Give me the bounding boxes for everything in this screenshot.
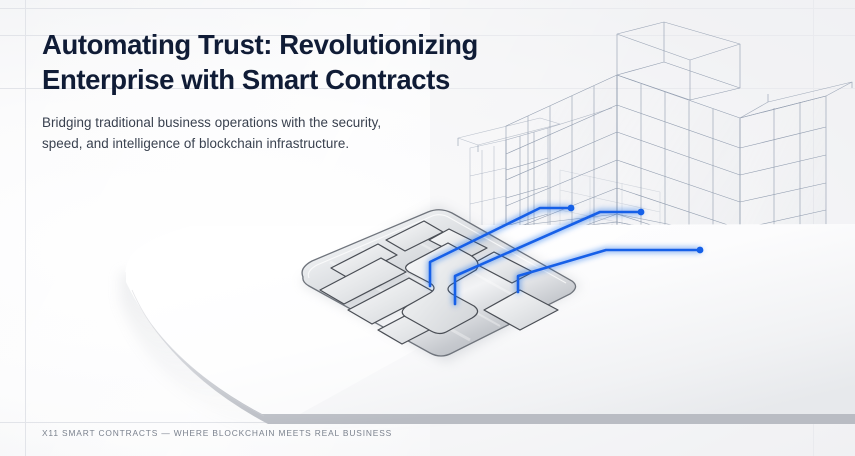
page-title: Automating Trust: Revolutionizing Enterp… bbox=[42, 28, 512, 97]
footer-caption: X11 SMART CONTRACTS — WHERE BLOCKCHAIN M… bbox=[42, 428, 392, 438]
hero-text-block: Automating Trust: Revolutionizing Enterp… bbox=[42, 28, 512, 154]
connector-dot-1 bbox=[568, 205, 575, 212]
connector-dot-2 bbox=[638, 209, 645, 216]
connector-dot-3 bbox=[697, 247, 704, 254]
page-subtitle: Bridging traditional business operations… bbox=[42, 113, 512, 154]
hero-slide: Automating Trust: Revolutionizing Enterp… bbox=[0, 0, 855, 456]
